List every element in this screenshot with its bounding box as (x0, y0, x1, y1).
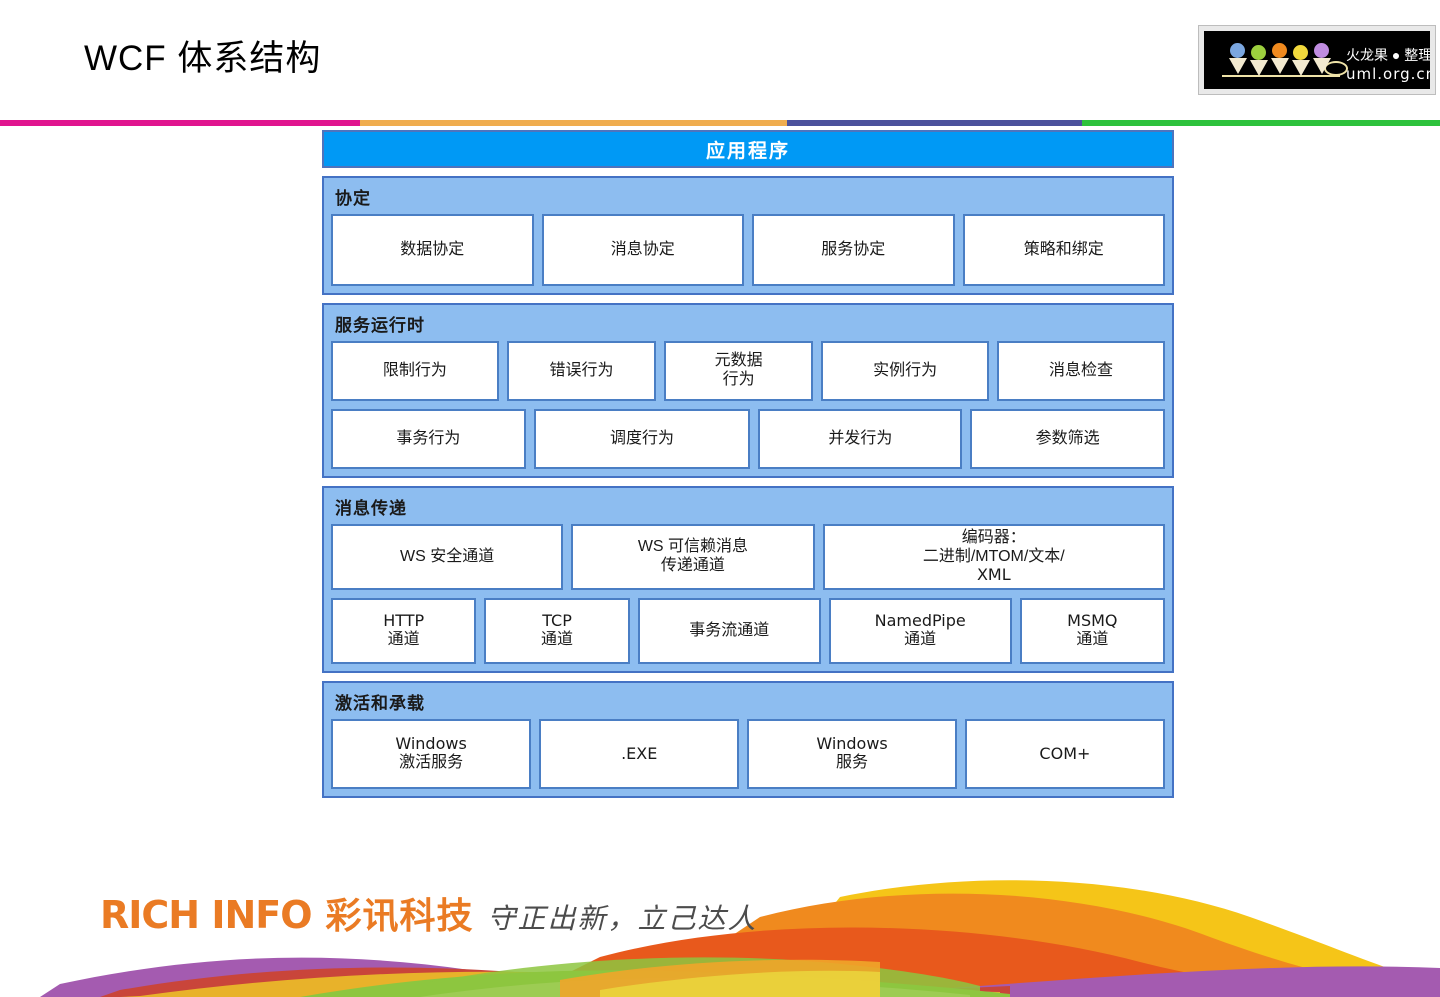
divider-segment-magenta (0, 120, 360, 126)
component-label: .EXE (621, 745, 657, 764)
divider-color-bar (0, 120, 1440, 126)
layer-title: 消息传递 (335, 494, 1165, 519)
component-box[interactable]: 事务流通道 (638, 598, 821, 664)
component-box[interactable]: Windows激活服务 (331, 719, 531, 789)
component-label: 参数筛选 (1036, 430, 1100, 449)
logo-figure-head-1 (1230, 43, 1245, 58)
application-layer-bar: 应用程序 (322, 130, 1174, 168)
component-box[interactable]: WS 可信赖消息传递通道 (571, 524, 814, 590)
component-box[interactable]: 服务协定 (752, 214, 955, 286)
layer-row: WS 安全通道WS 可信赖消息传递通道编码器：二进制/MTOM/文本/XML (331, 524, 1165, 590)
architecture-layers: 协定数据协定消息协定服务协定策略和绑定服务运行时限制行为错误行为元数据行为实例行… (322, 176, 1174, 798)
layer-row: HTTP通道TCP通道事务流通道NamedPipe通道MSMQ通道 (331, 598, 1165, 664)
component-label: 服务协定 (821, 241, 885, 260)
layer-row: 事务行为调度行为并发行为参数筛选 (331, 409, 1165, 469)
component-label: NamedPipe通道 (875, 612, 966, 650)
logo-figure-body-4 (1292, 60, 1310, 76)
component-box[interactable]: 消息协定 (542, 214, 745, 286)
component-label: COM+ (1039, 745, 1090, 764)
layer-row: 限制行为错误行为元数据行为实例行为消息检查 (331, 341, 1165, 401)
wcf-architecture-diagram: 应用程序 协定数据协定消息协定服务协定策略和绑定服务运行时限制行为错误行为元数据… (322, 130, 1174, 798)
component-label: 限制行为 (383, 362, 447, 381)
company-branding: RICH INFO 彩讯科技 守正出新，立己达人 (100, 887, 758, 939)
logo-figure-head-2 (1251, 45, 1266, 60)
divider-segment-navy (787, 120, 1082, 126)
divider-segment-green (1082, 120, 1440, 126)
logo-inner-panel: 火龙果 ● 整理 uml.org.cn (1204, 31, 1430, 89)
slide-header: WCF 体系结构 火龙果 ● 整理 uml.org.cn (0, 0, 1440, 118)
component-label: 策略和绑定 (1024, 241, 1104, 260)
layer-title: 服务运行时 (335, 311, 1165, 336)
component-label: 事务流通道 (689, 622, 769, 641)
layer-row: 数据协定消息协定服务协定策略和绑定 (331, 214, 1165, 286)
component-box[interactable]: 策略和绑定 (963, 214, 1166, 286)
logo-figure-body-2 (1250, 60, 1268, 76)
slide-footer: RICH INFO 彩讯科技 守正出新，立己达人 (0, 862, 1440, 997)
component-box[interactable]: WS 安全通道 (331, 524, 563, 590)
brand-name-en: RICH INFO (100, 893, 312, 937)
component-label: TCP通道 (541, 612, 573, 650)
component-box[interactable]: 消息检查 (997, 341, 1165, 401)
component-box[interactable]: 错误行为 (507, 341, 656, 401)
component-box[interactable]: 限制行为 (331, 341, 499, 401)
component-box[interactable]: .EXE (539, 719, 739, 789)
logo-url-text: uml.org.cn (1346, 65, 1430, 83)
layer-row: Windows激活服务.EXEWindows服务COM+ (331, 719, 1165, 789)
component-box[interactable]: 编码器：二进制/MTOM/文本/XML (823, 524, 1165, 590)
component-box[interactable]: 参数筛选 (970, 409, 1165, 469)
component-label: 实例行为 (873, 362, 937, 381)
logo-figure-head-3 (1272, 43, 1287, 58)
component-label: WS 可信赖消息传递通道 (638, 538, 748, 576)
component-label: HTTP通道 (383, 612, 424, 650)
logo-name-text: 火龙果 ● 整理 (1346, 45, 1430, 65)
layer-4: 激活和承载Windows激活服务.EXEWindows服务COM+ (322, 681, 1174, 798)
logo-figure-body-3 (1271, 58, 1289, 74)
layer-3: 消息传递WS 安全通道WS 可信赖消息传递通道编码器：二进制/MTOM/文本/X… (322, 486, 1174, 673)
component-box[interactable]: 调度行为 (534, 409, 751, 469)
logo-figure-head-5 (1314, 43, 1329, 58)
logo-figure-head-4 (1293, 45, 1308, 60)
component-label: 消息检查 (1049, 362, 1113, 381)
logo-figure-body-1 (1229, 58, 1247, 74)
page-title: WCF 体系结构 (84, 30, 321, 81)
component-label: Windows服务 (816, 735, 887, 773)
component-label: 元数据行为 (715, 352, 763, 390)
layer-1: 协定数据协定消息协定服务协定策略和绑定 (322, 176, 1174, 295)
component-box[interactable]: 事务行为 (331, 409, 526, 469)
divider-segment-orange (360, 120, 787, 126)
component-label: 并发行为 (828, 430, 892, 449)
component-box[interactable]: HTTP通道 (331, 598, 476, 664)
layer-2: 服务运行时限制行为错误行为元数据行为实例行为消息检查事务行为调度行为并发行为参数… (322, 303, 1174, 478)
component-label: 数据协定 (400, 241, 464, 260)
logo-ground-line (1222, 75, 1340, 77)
component-label: 调度行为 (610, 430, 674, 449)
layer-title: 协定 (335, 184, 1165, 209)
brand-slogan: 守正出新，立己达人 (488, 897, 758, 937)
logo-figure-body-5 (1313, 58, 1331, 74)
component-label: 编码器：二进制/MTOM/文本/XML (923, 529, 1065, 586)
component-label: 错误行为 (549, 362, 613, 381)
component-label: 事务行为 (396, 430, 460, 449)
component-box[interactable]: 数据协定 (331, 214, 534, 286)
component-label: WS 安全通道 (400, 548, 494, 567)
component-box[interactable]: 并发行为 (758, 409, 962, 469)
layer-title: 激活和承载 (335, 689, 1165, 714)
component-box[interactable]: 元数据行为 (664, 341, 813, 401)
component-box[interactable]: 实例行为 (821, 341, 989, 401)
component-box[interactable]: NamedPipe通道 (829, 598, 1012, 664)
brand-name-cn: 彩讯科技 (326, 887, 474, 939)
watermark-logo-badge: 火龙果 ● 整理 uml.org.cn (1198, 25, 1436, 95)
component-label: 消息协定 (611, 241, 675, 260)
component-box[interactable]: MSMQ通道 (1020, 598, 1165, 664)
component-box[interactable]: TCP通道 (484, 598, 629, 664)
component-label: Windows激活服务 (395, 735, 466, 773)
component-box[interactable]: COM+ (965, 719, 1165, 789)
component-box[interactable]: Windows服务 (747, 719, 957, 789)
component-label: MSMQ通道 (1067, 612, 1117, 650)
